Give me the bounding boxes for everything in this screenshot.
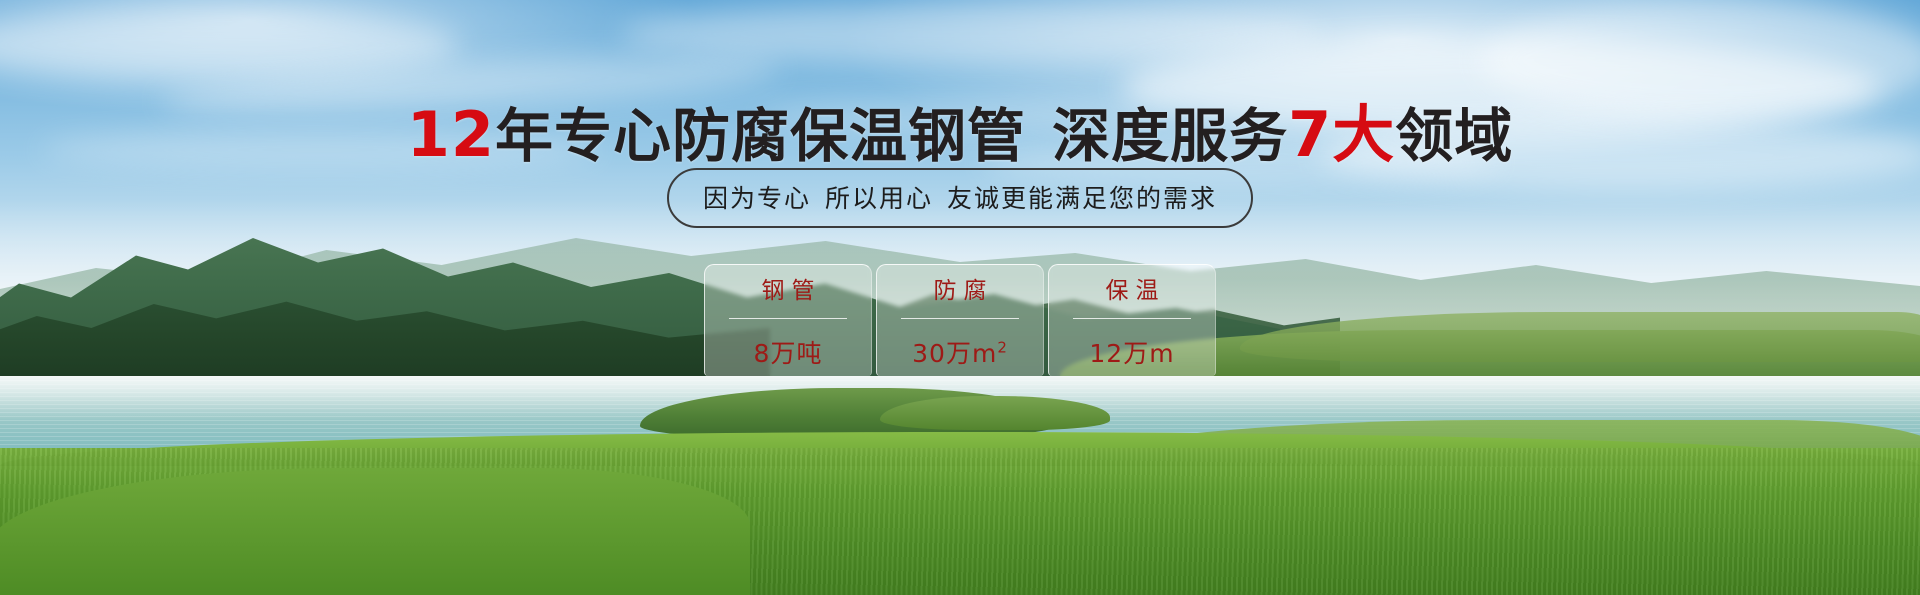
subtitle-part-2: 所以用心 <box>825 184 933 213</box>
stat-card-value-text: 30万m <box>912 339 997 368</box>
banner-subtitle: 因为专心所以用心友诚更能满足您的需求 <box>667 168 1253 228</box>
stat-card-insulation: 保温 12万m <box>1048 264 1216 376</box>
banner-headline: 12年专心防腐保温钢管深度服务7大领域 <box>0 84 1920 174</box>
subtitle-part-1: 因为专心 <box>703 184 811 213</box>
stat-card-label: 防腐 <box>901 271 1019 319</box>
headline-segment-3: 领域 <box>1395 102 1513 170</box>
headline-years-number: 12 <box>407 98 495 171</box>
subtitle-part-3: 友诚更能满足您的需求 <box>947 184 1217 213</box>
hero-banner: 12年专心防腐保温钢管深度服务7大领域 因为专心所以用心友诚更能满足您的需求 钢… <box>0 0 1920 595</box>
stat-card-value: 8万吨 <box>754 334 823 370</box>
stat-card-group: 钢管 8万吨 防腐 30万m2 保温 12万m <box>0 264 1920 376</box>
stat-card-value: 30万m2 <box>912 334 1008 370</box>
stat-card-value: 12万m <box>1089 334 1174 370</box>
banner-subtitle-wrap: 因为专心所以用心友诚更能满足您的需求 <box>0 168 1920 228</box>
stat-card-steel-pipe: 钢管 8万吨 <box>704 264 872 376</box>
banner-content: 12年专心防腐保温钢管深度服务7大领域 因为专心所以用心友诚更能满足您的需求 钢… <box>0 0 1920 595</box>
stat-card-value-superscript: 2 <box>997 339 1008 357</box>
stat-card-label: 钢管 <box>729 271 847 319</box>
stat-card-value-text: 12万m <box>1089 339 1174 368</box>
headline-fields-number: 7大 <box>1288 98 1395 171</box>
stat-card-value-text: 8万吨 <box>754 339 823 368</box>
stat-card-label: 保温 <box>1073 271 1191 319</box>
stat-card-anticorrosion: 防腐 30万m2 <box>876 264 1044 376</box>
headline-segment-1: 年专心防腐保温钢管 <box>495 102 1026 170</box>
headline-segment-2: 深度服务 <box>1052 102 1288 170</box>
